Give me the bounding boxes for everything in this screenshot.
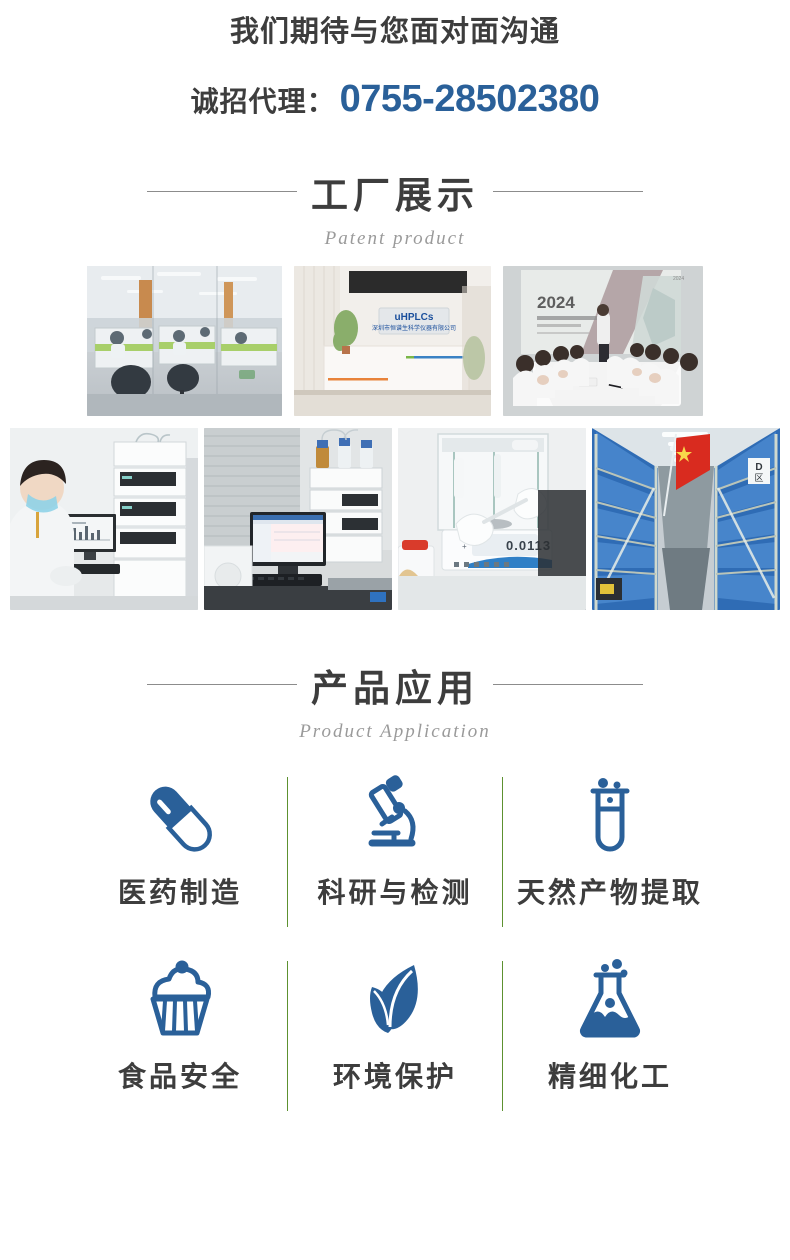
photo-engineer-operating-hplc[interactable] [10,428,198,610]
photo-analytical-balance-weighing[interactable]: 0.0113 + [398,428,586,610]
erlenmeyer-flask-icon [567,953,653,1051]
heading-rule-left [147,191,297,192]
svg-text:区: 区 [754,473,763,483]
photo-hplc-system-workstation[interactable] [204,428,392,610]
cupcake-icon [137,953,223,1051]
photo-office-workstations[interactable] [87,266,282,416]
svg-text:uHPLCs: uHPLCs [395,312,434,323]
application-item-natural-extraction[interactable]: 天然产物提取 [503,769,718,939]
application-label-environment: 环境保护 [333,1055,457,1095]
marketing-page: 我们期待与您面对面沟通 诚招代理： 0755-28502380 工厂展示 Pat… [0,0,790,1260]
application-grid: 医药制造 科研与检测 [0,769,790,1123]
application-label-fine-chemicals: 精细化工 [548,1055,672,1095]
factory-section-heading: 工厂展示 Patent product [0,165,790,250]
capsule-pill-icon [137,769,223,867]
svg-text:2024: 2024 [537,293,575,312]
heading-rule-right-2 [493,684,643,685]
application-section-subtitle: Product Application [0,721,790,743]
factory-section-title: 工厂展示 [311,165,479,219]
agent-recruit-line: 诚招代理： 0755-28502380 [0,78,790,121]
application-label-research: 科研与检测 [317,871,472,911]
microscope-icon [352,769,438,867]
application-title-row: 产品应用 [0,658,790,712]
photo-warehouse-shelving[interactable]: D 区 [592,428,780,610]
svg-text:2024: 2024 [673,276,684,282]
heading-rule-right [493,191,643,192]
svg-text:D: D [755,462,762,473]
svg-text:深圳市恒谱生科学仪器有限公司: 深圳市恒谱生科学仪器有限公司 [372,324,456,332]
application-section-title: 产品应用 [311,658,479,712]
heading-rule-left-2 [147,684,297,685]
application-section-heading: 产品应用 Product Application [0,658,790,743]
factory-photo-row-2: 0.0113 + [0,428,790,610]
application-item-fine-chemicals[interactable]: 精细化工 [503,953,718,1123]
photo-meeting-presentation[interactable]: 2024 2024 [503,266,703,416]
application-item-food-safety[interactable]: 食品安全 [73,953,288,1123]
application-label-natural-extraction: 天然产物提取 [517,871,703,911]
factory-title-row: 工厂展示 [0,165,790,219]
photo-company-reception[interactable]: uHPLCs 深圳市恒谱生科学仪器有限公司 [294,266,491,416]
factory-section-subtitle: Patent product [0,228,790,250]
leaf-icon [352,953,438,1051]
application-item-research[interactable]: 科研与检测 [288,769,503,939]
application-label-pharmaceutical: 医药制造 [118,871,242,911]
application-label-food-safety: 食品安全 [118,1055,242,1095]
test-tube-icon [567,769,653,867]
factory-photo-row-1: uHPLCs 深圳市恒谱生科学仪器有限公司 [0,266,790,416]
application-item-pharmaceutical[interactable]: 医药制造 [73,769,288,939]
agent-recruit-prefix: 诚招代理： [191,80,336,120]
page-header: 我们期待与您面对面沟通 诚招代理： 0755-28502380 [0,0,790,121]
application-row-1: 医药制造 科研与检测 [0,769,790,939]
contact-phone-number[interactable]: 0755-28502380 [340,78,600,121]
header-tagline: 我们期待与您面对面沟通 [0,14,790,52]
application-row-2: 食品安全 环境保护 [0,953,790,1123]
application-item-environment[interactable]: 环境保护 [288,953,503,1123]
